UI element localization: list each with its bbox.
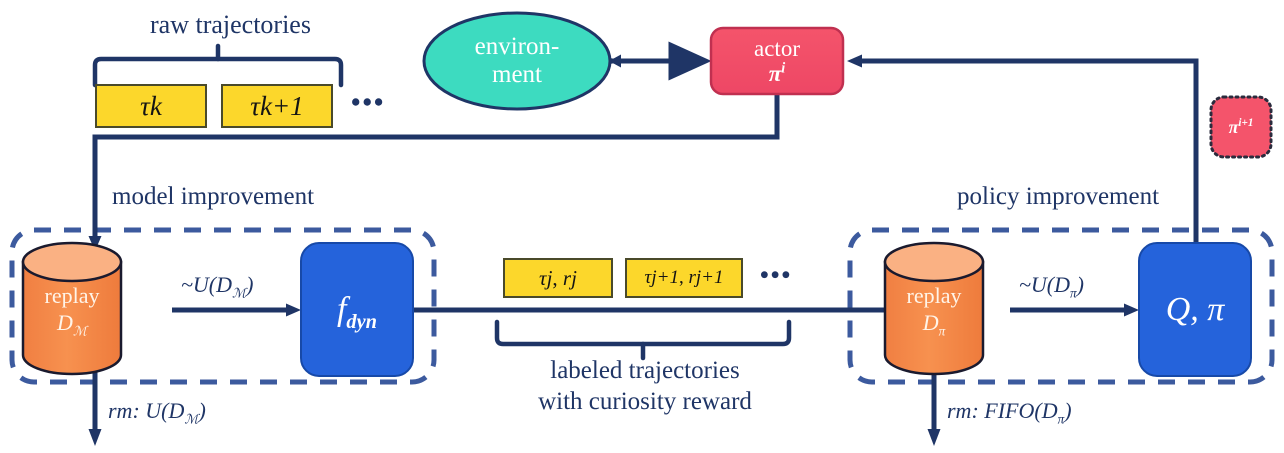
- replay-policy-node[interactable]: [885, 243, 983, 374]
- rm-model-suffix: ): [199, 398, 206, 423]
- policy-improvement-label: policy improvement: [957, 183, 1159, 211]
- rm-model-arrowhead: [89, 429, 102, 446]
- replay-model-node[interactable]: [23, 243, 121, 374]
- new-policy-node[interactable]: [1211, 97, 1271, 157]
- labeled-trajectories-label: labeled trajectories with curiosity rewa…: [520, 356, 770, 417]
- sample-policy-label: ~U(Dπ): [1019, 272, 1084, 298]
- trajectory-ellipsis-mid: •••: [760, 262, 792, 290]
- raw-trajectories-label: raw trajectories: [150, 10, 311, 40]
- sample-model-prefix: ~U(D: [181, 272, 232, 297]
- sample-model-subscript: ℳ: [232, 285, 246, 300]
- qpi-inflow-arrowhead: [1124, 304, 1139, 317]
- rm-policy-label: rm: FIFO(Dπ): [947, 398, 1072, 424]
- labeled-trajectories-line1: labeled trajectories: [520, 356, 770, 387]
- sample-policy-suffix: ): [1077, 272, 1084, 297]
- sample-model-label: ~U(Dℳ): [181, 272, 253, 298]
- tau-base: τ: [250, 91, 260, 122]
- raw-trajectories-bracket: [95, 46, 341, 85]
- trajectory-ellipsis-top: •••: [351, 87, 385, 118]
- rm-model-subscript: ℳ: [184, 411, 198, 426]
- qpi-node[interactable]: [1139, 243, 1251, 376]
- fdyn-inflow-arrowhead: [286, 304, 301, 317]
- sample-model-suffix: ): [246, 272, 253, 297]
- environment-node[interactable]: [424, 13, 610, 109]
- r-base: r: [688, 267, 695, 289]
- fdyn-node[interactable]: [301, 243, 413, 376]
- sample-policy-subscript: π: [1070, 285, 1077, 300]
- labeled-trajectory-box-1[interactable]: τj+1, rj+1: [625, 258, 743, 298]
- rm-policy-arrowhead: [928, 429, 941, 446]
- labeled-trajectories-line2: with curiosity reward: [520, 387, 770, 418]
- labeled-trajectories-bracket: [497, 322, 789, 358]
- rm-policy-prefix: rm: FIFO(D: [947, 398, 1058, 423]
- diagram-canvas: raw trajectories τk τk+1 ••• environ- me…: [0, 0, 1284, 453]
- rm-model-label: rm: U(Dℳ): [108, 398, 206, 424]
- labeled-trajectory-box-0[interactable]: τj, rj: [503, 258, 613, 298]
- tau-base: τ: [539, 266, 547, 291]
- trajectory-box-0[interactable]: τk: [95, 84, 207, 128]
- sample-policy-prefix: ~U(D: [1019, 272, 1070, 297]
- actor-inflow-arrowhead: [847, 55, 862, 68]
- actor-node[interactable]: [711, 28, 843, 94]
- tau-base: τ: [140, 91, 150, 122]
- rm-model-prefix: rm: U(D: [108, 398, 184, 423]
- model-improvement-label: model improvement: [112, 183, 314, 211]
- r-base: r: [563, 266, 571, 291]
- qpi-to-actor-edge: [856, 61, 1196, 248]
- trajectory-box-1[interactable]: τk+1: [221, 84, 333, 128]
- rm-policy-suffix: ): [1064, 398, 1071, 423]
